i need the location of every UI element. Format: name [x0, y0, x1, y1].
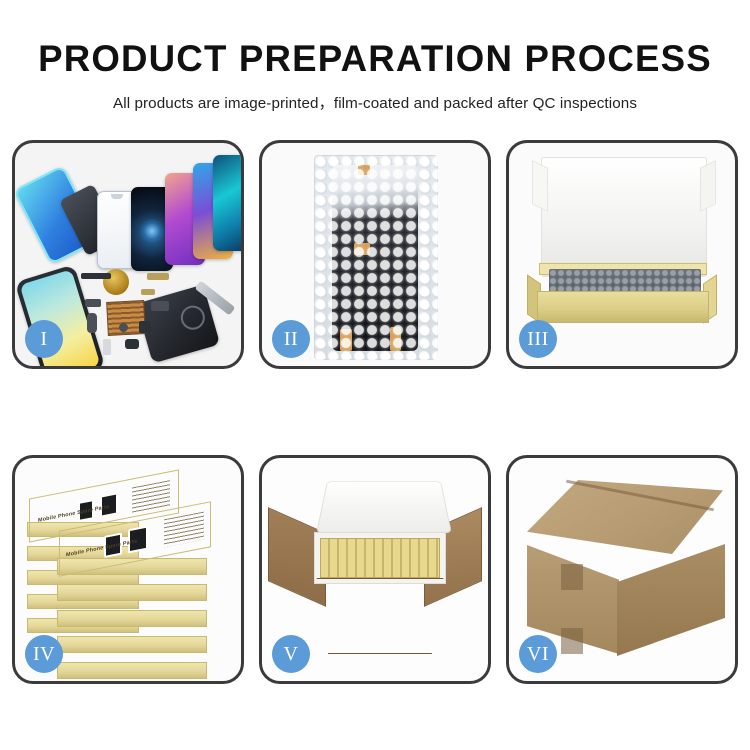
button-part-icon: [125, 339, 139, 349]
flex-cable-icon: [87, 313, 97, 333]
stacked-box-f2: [57, 584, 207, 601]
page-header: PRODUCT PREPARATION PROCESS All products…: [0, 0, 750, 113]
page-subtitle: All products are image-printed，film-coat…: [0, 91, 750, 113]
small-part-icon: [85, 299, 101, 307]
box-lid-spec-lines-back: [132, 480, 170, 513]
screen-flex-cable: [358, 239, 376, 349]
process-step-panel-5: V: [259, 455, 491, 684]
product-preparation-process-page: PRODUCT PREPARATION PROCESS All products…: [0, 0, 750, 750]
carton-tab-upper: [561, 564, 583, 590]
step-badge-5: V: [272, 635, 310, 673]
carton-tab-lower: [561, 628, 583, 654]
process-step-panel-6: VI: [506, 455, 738, 684]
phone-teal-screen-icon: [213, 155, 241, 251]
tape-middle-icon: [354, 243, 370, 255]
inner-box-front-panel: [537, 291, 709, 323]
process-step-panel-2: II: [259, 140, 491, 369]
page-title: PRODUCT PREPARATION PROCESS: [4, 40, 747, 79]
process-step-grid: I II: [12, 140, 738, 684]
gold-contact-icon: [147, 273, 169, 280]
step-badge-2: II: [272, 320, 310, 358]
foam-lid: [541, 157, 707, 277]
gold-contact-small-icon: [141, 289, 155, 295]
tape-top-icon: [358, 165, 370, 175]
screw-icon: [119, 323, 128, 332]
sealed-carton-right-face: [617, 544, 725, 656]
stacked-box-f5: [57, 662, 207, 679]
chip-icon: [139, 321, 151, 333]
tape-lower-left-icon: [340, 329, 352, 351]
step-badge-1: I: [25, 320, 63, 358]
stacked-box-f4: [57, 636, 207, 653]
process-step-panel-3: III: [506, 140, 738, 369]
foam-lid-open: [316, 481, 452, 533]
stacked-box-f3: [57, 610, 207, 627]
step-badge-3: III: [519, 320, 557, 358]
step-badge-4: IV: [25, 635, 63, 673]
box-lid-label-front: Mobile Phone Spare Parts: [66, 539, 137, 559]
box-lid-label-back: Mobile Phone Spare Parts: [38, 504, 109, 524]
carton-body: [308, 578, 452, 654]
tape-lower-right-icon: [390, 327, 401, 351]
packed-yellow-boxes: [320, 538, 440, 578]
box-lid-spec-lines-front: [164, 512, 204, 548]
speaker-part-icon: [81, 273, 111, 279]
sim-tray-icon: [103, 339, 111, 355]
process-step-panel-4: Mobile Phone Spare Parts Mobile Phone Sp…: [12, 455, 244, 684]
camera-module-icon: [151, 301, 169, 311]
step-badge-6: VI: [519, 635, 557, 673]
process-step-panel-1: I: [12, 140, 244, 369]
